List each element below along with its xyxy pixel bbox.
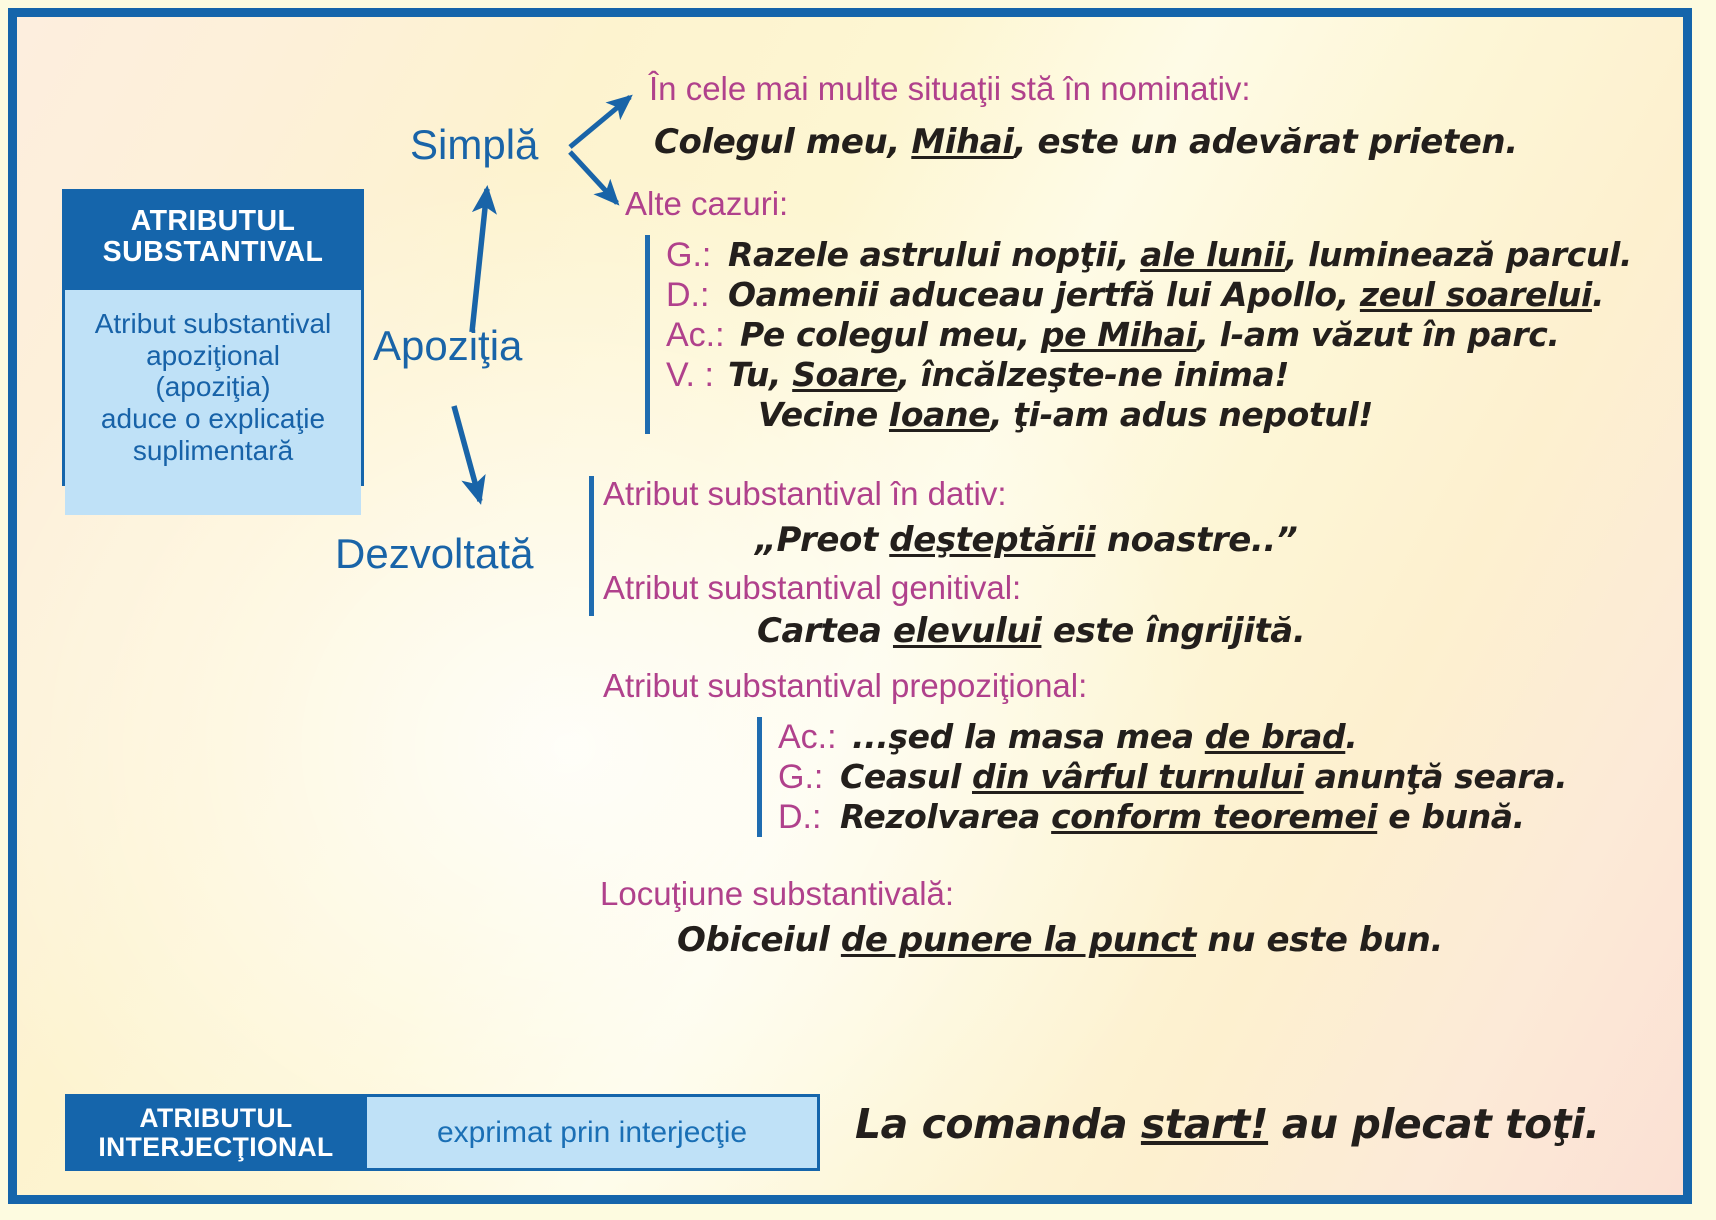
poster-stage: ATRIBUTUL SUBSTANTIVAL Atribut substanti… [17, 17, 1683, 1195]
arrow-simpla-to-alte-cazuri [570, 152, 617, 203]
case-row: G.: Razele astrului nopţii, ale lunii, l… [666, 235, 1566, 275]
case-text-underline: conform teoremei [1051, 797, 1377, 836]
case-text-post: , luminează parcul. [1285, 235, 1632, 274]
example-locutiune: Obiceiul de punere la punct nu este bun. [677, 920, 1443, 960]
case-text: Oamenii aduceau jertfă lui Apollo, zeul … [728, 275, 1604, 314]
case-text-post: . [1592, 275, 1604, 314]
example-interj-underline: start! [1141, 1100, 1268, 1148]
case-row: D.: Oamenii aduceau jertfă lui Apollo, z… [666, 275, 1566, 315]
description-line-5: suplimentară [65, 435, 361, 467]
example-dativ-underline: deşteptării [889, 520, 1095, 560]
branch-label-dezvoltata: Dezvoltată [335, 530, 533, 578]
case-tag: G.: [778, 758, 840, 797]
case-text-underline: ale lunii [1140, 235, 1285, 274]
heading-dativ: Atribut substantival în dativ: [603, 475, 1007, 513]
case-text: ...şed la masa mea de brad. [852, 717, 1357, 756]
case-row: D.: Rezolvarea conform teoremei e bună. [778, 797, 1578, 837]
atributul-substantival-title: ATRIBUTUL SUBSTANTIVAL [65, 192, 361, 290]
case-text: Rezolvarea conform teoremei e bună. [840, 797, 1525, 836]
case-tag: Ac.: [778, 718, 852, 757]
case-row: G.: Ceasul din vârful turnului anunţă se… [778, 757, 1578, 797]
case-row: V. : Tu, Soare, încălzeşte-ne inima! [666, 355, 1566, 395]
case-text-pre: Pe colegul meu, [740, 315, 1041, 354]
description-line-2: apoziţional [65, 340, 361, 372]
example-nominativ-underline: Mihai [911, 122, 1013, 162]
case-v2-underline: Ioane [889, 395, 990, 434]
example-interj-post: au plecat toţi. [1268, 1100, 1599, 1148]
branch-label-apozitia: Apoziţia [373, 322, 522, 370]
case-tag: D.: [666, 276, 728, 315]
arrow-simpla-to-nominativ [570, 97, 630, 147]
case-text-post: , încălzeşte-ne inima! [898, 355, 1289, 394]
case-list-prepozitional: Ac.: ...şed la masa mea de brad. G.: Cea… [757, 717, 1578, 837]
case-text-pre: Razele astrului nopţii, [728, 235, 1140, 274]
case-list-simpla: G.: Razele astrului nopţii, ale lunii, l… [645, 235, 1566, 434]
case-v2-post: , ţi-am adus nepotul! [990, 395, 1373, 434]
example-locutiune-underline: de punere la punct [841, 920, 1196, 960]
case-text: Ceasul din vârful turnului anunţă seara. [840, 757, 1567, 796]
case-tag: V. : [666, 356, 728, 395]
example-interjectional: La comanda start! au plecat toţi. [855, 1100, 1600, 1148]
example-nominativ: Colegul meu, Mihai, este un adevărat pri… [654, 122, 1518, 162]
example-genitival: Cartea elevului este îngrijită. [757, 611, 1305, 651]
atributul-interjectional-box: ATRIBUTUL INTERJECŢIONAL exprimat prin i… [65, 1094, 820, 1171]
example-nominativ-pre: Colegul meu, [654, 122, 911, 162]
case-text-pre: Tu, [728, 355, 792, 394]
example-genitival-post: este îngrijită. [1041, 611, 1305, 651]
case-v2-pre: Vecine [758, 395, 889, 434]
title-line-2: INTERJECŢIONAL [68, 1133, 364, 1162]
case-tag: Ac.: [666, 316, 740, 355]
case-text-underline: din vârful turnului [972, 757, 1304, 796]
case-text-pre: Ceasul [840, 757, 972, 796]
case-text-post: . [1345, 717, 1357, 756]
description-line-3: (apoziţia) [65, 371, 361, 403]
example-genitival-underline: elevului [893, 611, 1041, 651]
description-line-4: aduce o explicaţie [65, 403, 361, 435]
case-text: Tu, Soare, încălzeşte-ne inima! [728, 355, 1289, 394]
case-row: Ac.: Pe colegul meu, pe Mihai, l-am văzu… [666, 315, 1566, 355]
example-dativ-post: noastre..” [1095, 520, 1297, 560]
heading-nominativ: În cele mai multe situaţii stă în nomina… [649, 70, 1251, 108]
case-text-post: , l-am văzut în parc. [1196, 315, 1559, 354]
example-nominativ-post: , este un adevărat prieten. [1014, 122, 1518, 162]
case-text-underline: de brad [1205, 717, 1345, 756]
case-text-underline: pe Mihai [1041, 315, 1197, 354]
branch-label-simpla: Simplă [410, 121, 538, 169]
example-genitival-pre: Cartea [757, 611, 893, 651]
case-text-pre: Rezolvarea [840, 797, 1051, 836]
atributul-substantival-description: Atribut substantival apoziţional (apoziţ… [65, 290, 361, 515]
example-locutiune-pre: Obiceiul [677, 920, 841, 960]
arrow-apozitia-to-dezvoltata [454, 406, 480, 501]
heading-prepozitional: Atribut substantival prepoziţional: [603, 667, 1087, 705]
arrow-apozitia-to-simpla [472, 189, 487, 332]
case-text-post: anunţă seara. [1304, 757, 1568, 796]
case-text-underline: Soare [792, 355, 897, 394]
example-dativ: „Preot deşteptării noastre..” [755, 520, 1297, 560]
example-interj-pre: La comanda [855, 1100, 1141, 1148]
case-text-post: e bună. [1377, 797, 1525, 836]
dezvoltata-vertical-rule [589, 476, 594, 616]
case-tag: G.: [666, 236, 728, 275]
heading-genitival: Atribut substantival genitival: [603, 569, 1021, 607]
case-text: Razele astrului nopţii, ale lunii, lumin… [728, 235, 1632, 274]
poster-frame: ATRIBUTUL SUBSTANTIVAL Atribut substanti… [8, 8, 1692, 1204]
case-text-pre: ...şed la masa mea [852, 717, 1205, 756]
atributul-substantival-box: ATRIBUTUL SUBSTANTIVAL Atribut substanti… [62, 189, 364, 486]
heading-alte-cazuri: Alte cazuri: [625, 185, 788, 223]
example-dativ-pre: „Preot [755, 520, 889, 560]
atributul-interjectional-title: ATRIBUTUL INTERJECŢIONAL [68, 1097, 364, 1168]
case-text-underline: zeul soarelui [1360, 275, 1592, 314]
description-line-1: Atribut substantival [65, 308, 361, 340]
case-row: Ac.: ...şed la masa mea de brad. [778, 717, 1578, 757]
heading-locutiune: Locuţiune substantivală: [600, 875, 954, 913]
title-line-2: SUBSTANTIVAL [65, 237, 361, 268]
title-line-1: ATRIBUTUL [65, 206, 361, 237]
atributul-interjectional-description: exprimat prin interjecţie [364, 1097, 817, 1168]
example-locutiune-post: nu este bun. [1196, 920, 1443, 960]
case-vocativ-second-line: Vecine Ioane, ţi-am adus nepotul! [666, 395, 1566, 434]
case-tag: D.: [778, 798, 840, 837]
case-text: Pe colegul meu, pe Mihai, l-am văzut în … [740, 315, 1560, 354]
title-line-1: ATRIBUTUL [68, 1104, 364, 1133]
case-text-pre: Oamenii aduceau jertfă lui Apollo, [728, 275, 1360, 314]
